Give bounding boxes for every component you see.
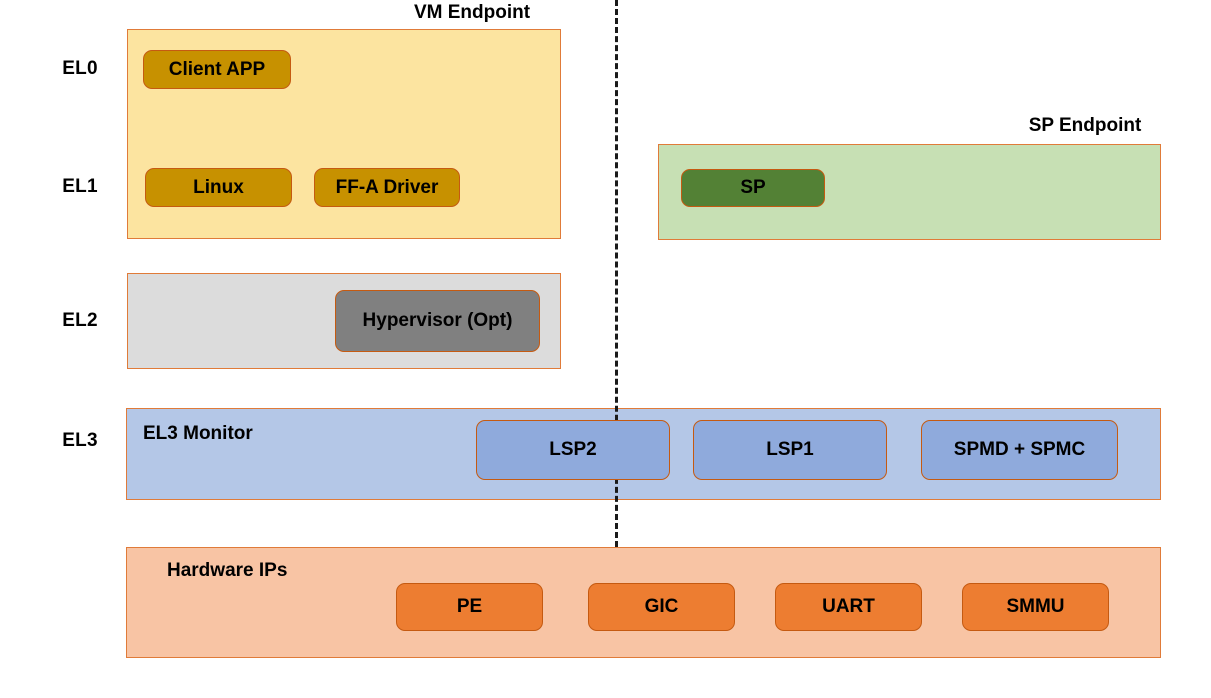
gic-chip: GIC [588, 583, 735, 631]
linux-chip: Linux [145, 168, 292, 207]
exception-level-label-el1: EL1 [40, 170, 120, 204]
lsp1-chip: LSP1 [693, 420, 887, 480]
diagram-canvas: EL0EL1EL2EL3 EL3 MonitorHardware IPs VM … [0, 0, 1211, 698]
exception-level-label-el3: EL3 [40, 424, 120, 458]
sp-endpoint-title: SP Endpoint [985, 115, 1185, 137]
exception-level-label-el2: EL2 [40, 304, 120, 338]
el3-region-label: EL3 Monitor [143, 423, 253, 445]
sp-chip: SP [681, 169, 825, 207]
exception-level-label-el0: EL0 [40, 52, 120, 86]
client-app-chip: Client APP [143, 50, 291, 89]
lsp2-chip: LSP2 [476, 420, 670, 480]
hypervisor-chip: Hypervisor (Opt) [335, 290, 540, 352]
pe-chip: PE [396, 583, 543, 631]
uart-chip: UART [775, 583, 922, 631]
hardware-region-label: Hardware IPs [167, 560, 287, 582]
spmd-spmc-chip: SPMD + SPMC [921, 420, 1118, 480]
smmu-chip: SMMU [962, 583, 1109, 631]
ffa-driver-chip: FF-A Driver [314, 168, 460, 207]
vm-endpoint-title: VM Endpoint [372, 2, 572, 24]
